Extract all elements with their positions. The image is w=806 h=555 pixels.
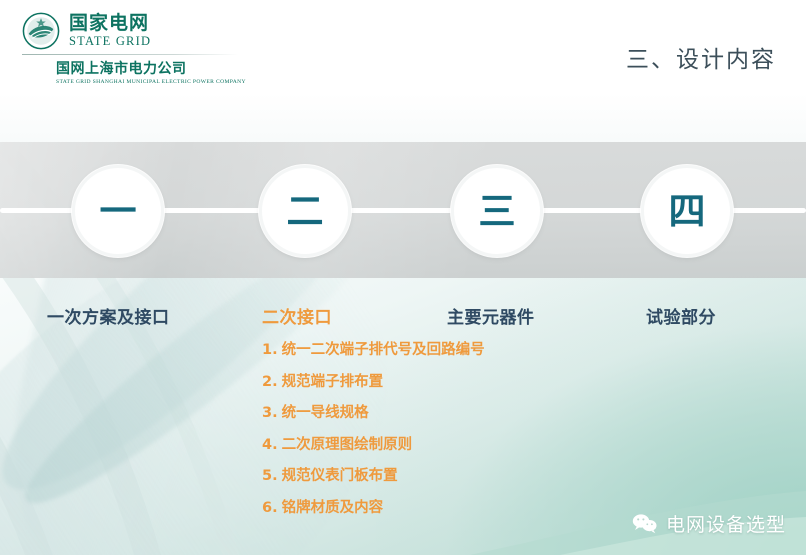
list-item-index: 2. [262,374,278,390]
list-item: 5.规范仪表门板布置 [262,469,485,484]
step-label-3: 主要元器件 [447,303,535,328]
list-item: 4.二次原理图绘制原则 [262,438,485,453]
logo-subsidiary-en: STATE GRID SHANGHAI MUNICIPAL ELECTRIC P… [56,79,252,85]
step-circle-3[interactable]: 三 [451,165,543,257]
logo-company-en: STATE GRID [69,35,151,49]
list-item: 3.统一导线规格 [262,406,485,421]
step-circle-2[interactable]: 二 [259,165,351,257]
logo-company-cn: 国家电网 [69,14,151,34]
wechat-icon [632,513,658,534]
list-item-text: 铭牌材质及内容 [282,500,384,516]
list-item-text: 二次原理图绘制原则 [282,437,413,453]
list-item: 6.铭牌材质及内容 [262,501,485,516]
state-grid-logo-block: 国家电网 STATE GRID 国网上海市电力公司 STATE GRID SHA… [22,12,252,85]
list-item-text: 统一二次端子排代号及回路编号 [282,342,485,358]
watermark-text: 电网设备选型 [666,510,786,537]
slide-canvas: 国家电网 STATE GRID 国网上海市电力公司 STATE GRID SHA… [0,0,806,555]
step-numeral-2: 二 [287,193,324,230]
watermark: 电网设备选型 [632,510,786,537]
step-circle-4[interactable]: 四 [641,165,733,257]
step-label-1: 一次方案及接口 [47,303,170,328]
list-item-text: 规范端子排布置 [282,374,384,390]
list-item-index: 3. [262,405,278,421]
step-numeral-4: 四 [669,193,706,230]
list-item-text: 规范仪表门板布置 [282,468,398,484]
list-item-index: 5. [262,468,278,484]
page-title: 三、设计内容 [626,40,776,74]
list-item-index: 4. [262,437,278,453]
logo-subsidiary-cn: 国网上海市电力公司 [56,58,252,78]
state-grid-globe-logo-icon [22,12,60,50]
list-item-index: 1. [262,342,278,358]
step-circle-1[interactable]: 一 [72,165,164,257]
step-numeral-1: 一 [100,193,137,230]
list-item: 2.规范端子排布置 [262,375,485,390]
list-item-index: 6. [262,500,278,516]
step-label-4: 试验部分 [646,303,716,328]
step-numeral-3: 三 [479,193,516,230]
step-label-2: 二次接口 [262,303,332,328]
list-item: 1.统一二次端子排代号及回路编号 [262,343,485,358]
logo-divider [22,54,238,55]
detail-list: 1.统一二次端子排代号及回路编号 2.规范端子排布置 3.统一导线规格 4.二次… [262,343,485,532]
list-item-text: 统一导线规格 [282,405,369,421]
